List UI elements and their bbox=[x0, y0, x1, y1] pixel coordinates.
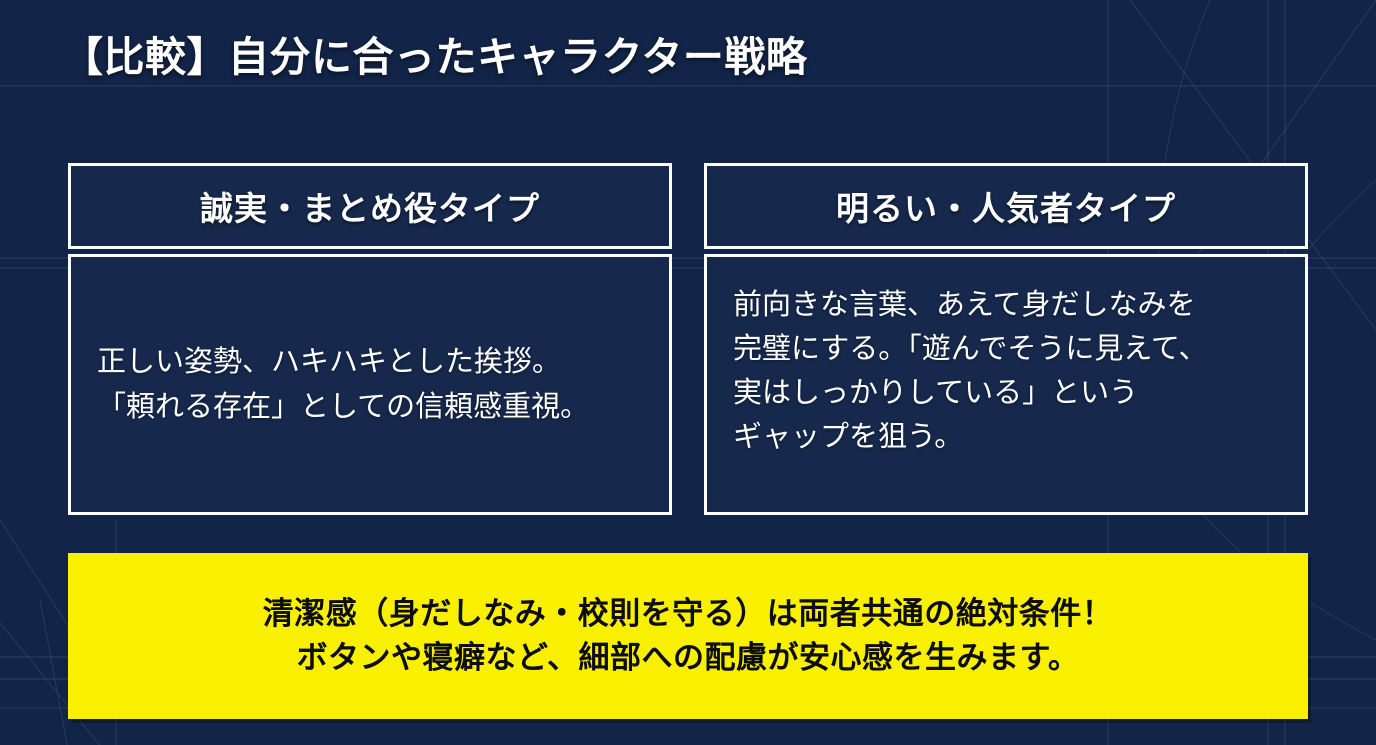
comparison-cards: 誠実・まとめ役タイプ 正しい姿勢、ハキハキとした挨拶。 「頼れる存在」としての信… bbox=[68, 163, 1308, 515]
page-title: 【比較】自分に合ったキャラクター戦略 bbox=[62, 23, 807, 83]
comparison-card-popular: 明るい・人気者タイプ 前向きな言葉、あえて身だしなみを 完璧にする。「遊んでそう… bbox=[704, 163, 1308, 515]
card-body-sincere: 正しい姿勢、ハキハキとした挨拶。 「頼れる存在」としての信頼感重視。 bbox=[68, 254, 672, 515]
highlight-banner-line-1: 清潔感（身だしなみ・校則を守る）は両者共通の絶対条件！ bbox=[263, 592, 1114, 636]
comparison-card-sincere: 誠実・まとめ役タイプ 正しい姿勢、ハキハキとした挨拶。 「頼れる存在」としての信… bbox=[68, 163, 672, 515]
card-header-label: 明るい・人気者タイプ bbox=[836, 182, 1176, 230]
highlight-banner-line-2: ボタンや寝癖など、細部への配慮が安心感を生みます。 bbox=[297, 636, 1080, 680]
highlight-banner: 清潔感（身だしなみ・校則を守る）は両者共通の絶対条件！ ボタンや寝癖など、細部へ… bbox=[68, 553, 1308, 719]
card-body-text: 正しい姿勢、ハキハキとした挨拶。 「頼れる存在」としての信頼感重視。 bbox=[97, 340, 589, 428]
card-body-popular: 前向きな言葉、あえて身だしなみを 完璧にする。「遊んでそうに見えて、 実はしっか… bbox=[704, 254, 1308, 515]
card-header-label: 誠実・まとめ役タイプ bbox=[200, 182, 540, 230]
card-header-popular: 明るい・人気者タイプ bbox=[704, 163, 1308, 249]
card-header-sincere: 誠実・まとめ役タイプ bbox=[68, 163, 672, 249]
slide-root: 【比較】自分に合ったキャラクター戦略 誠実・まとめ役タイプ 正しい姿勢、ハキハキ… bbox=[0, 0, 1376, 745]
card-body-text: 前向きな言葉、あえて身だしなみを 完璧にする。「遊んでそうに見えて、 実はしっか… bbox=[733, 283, 1207, 459]
